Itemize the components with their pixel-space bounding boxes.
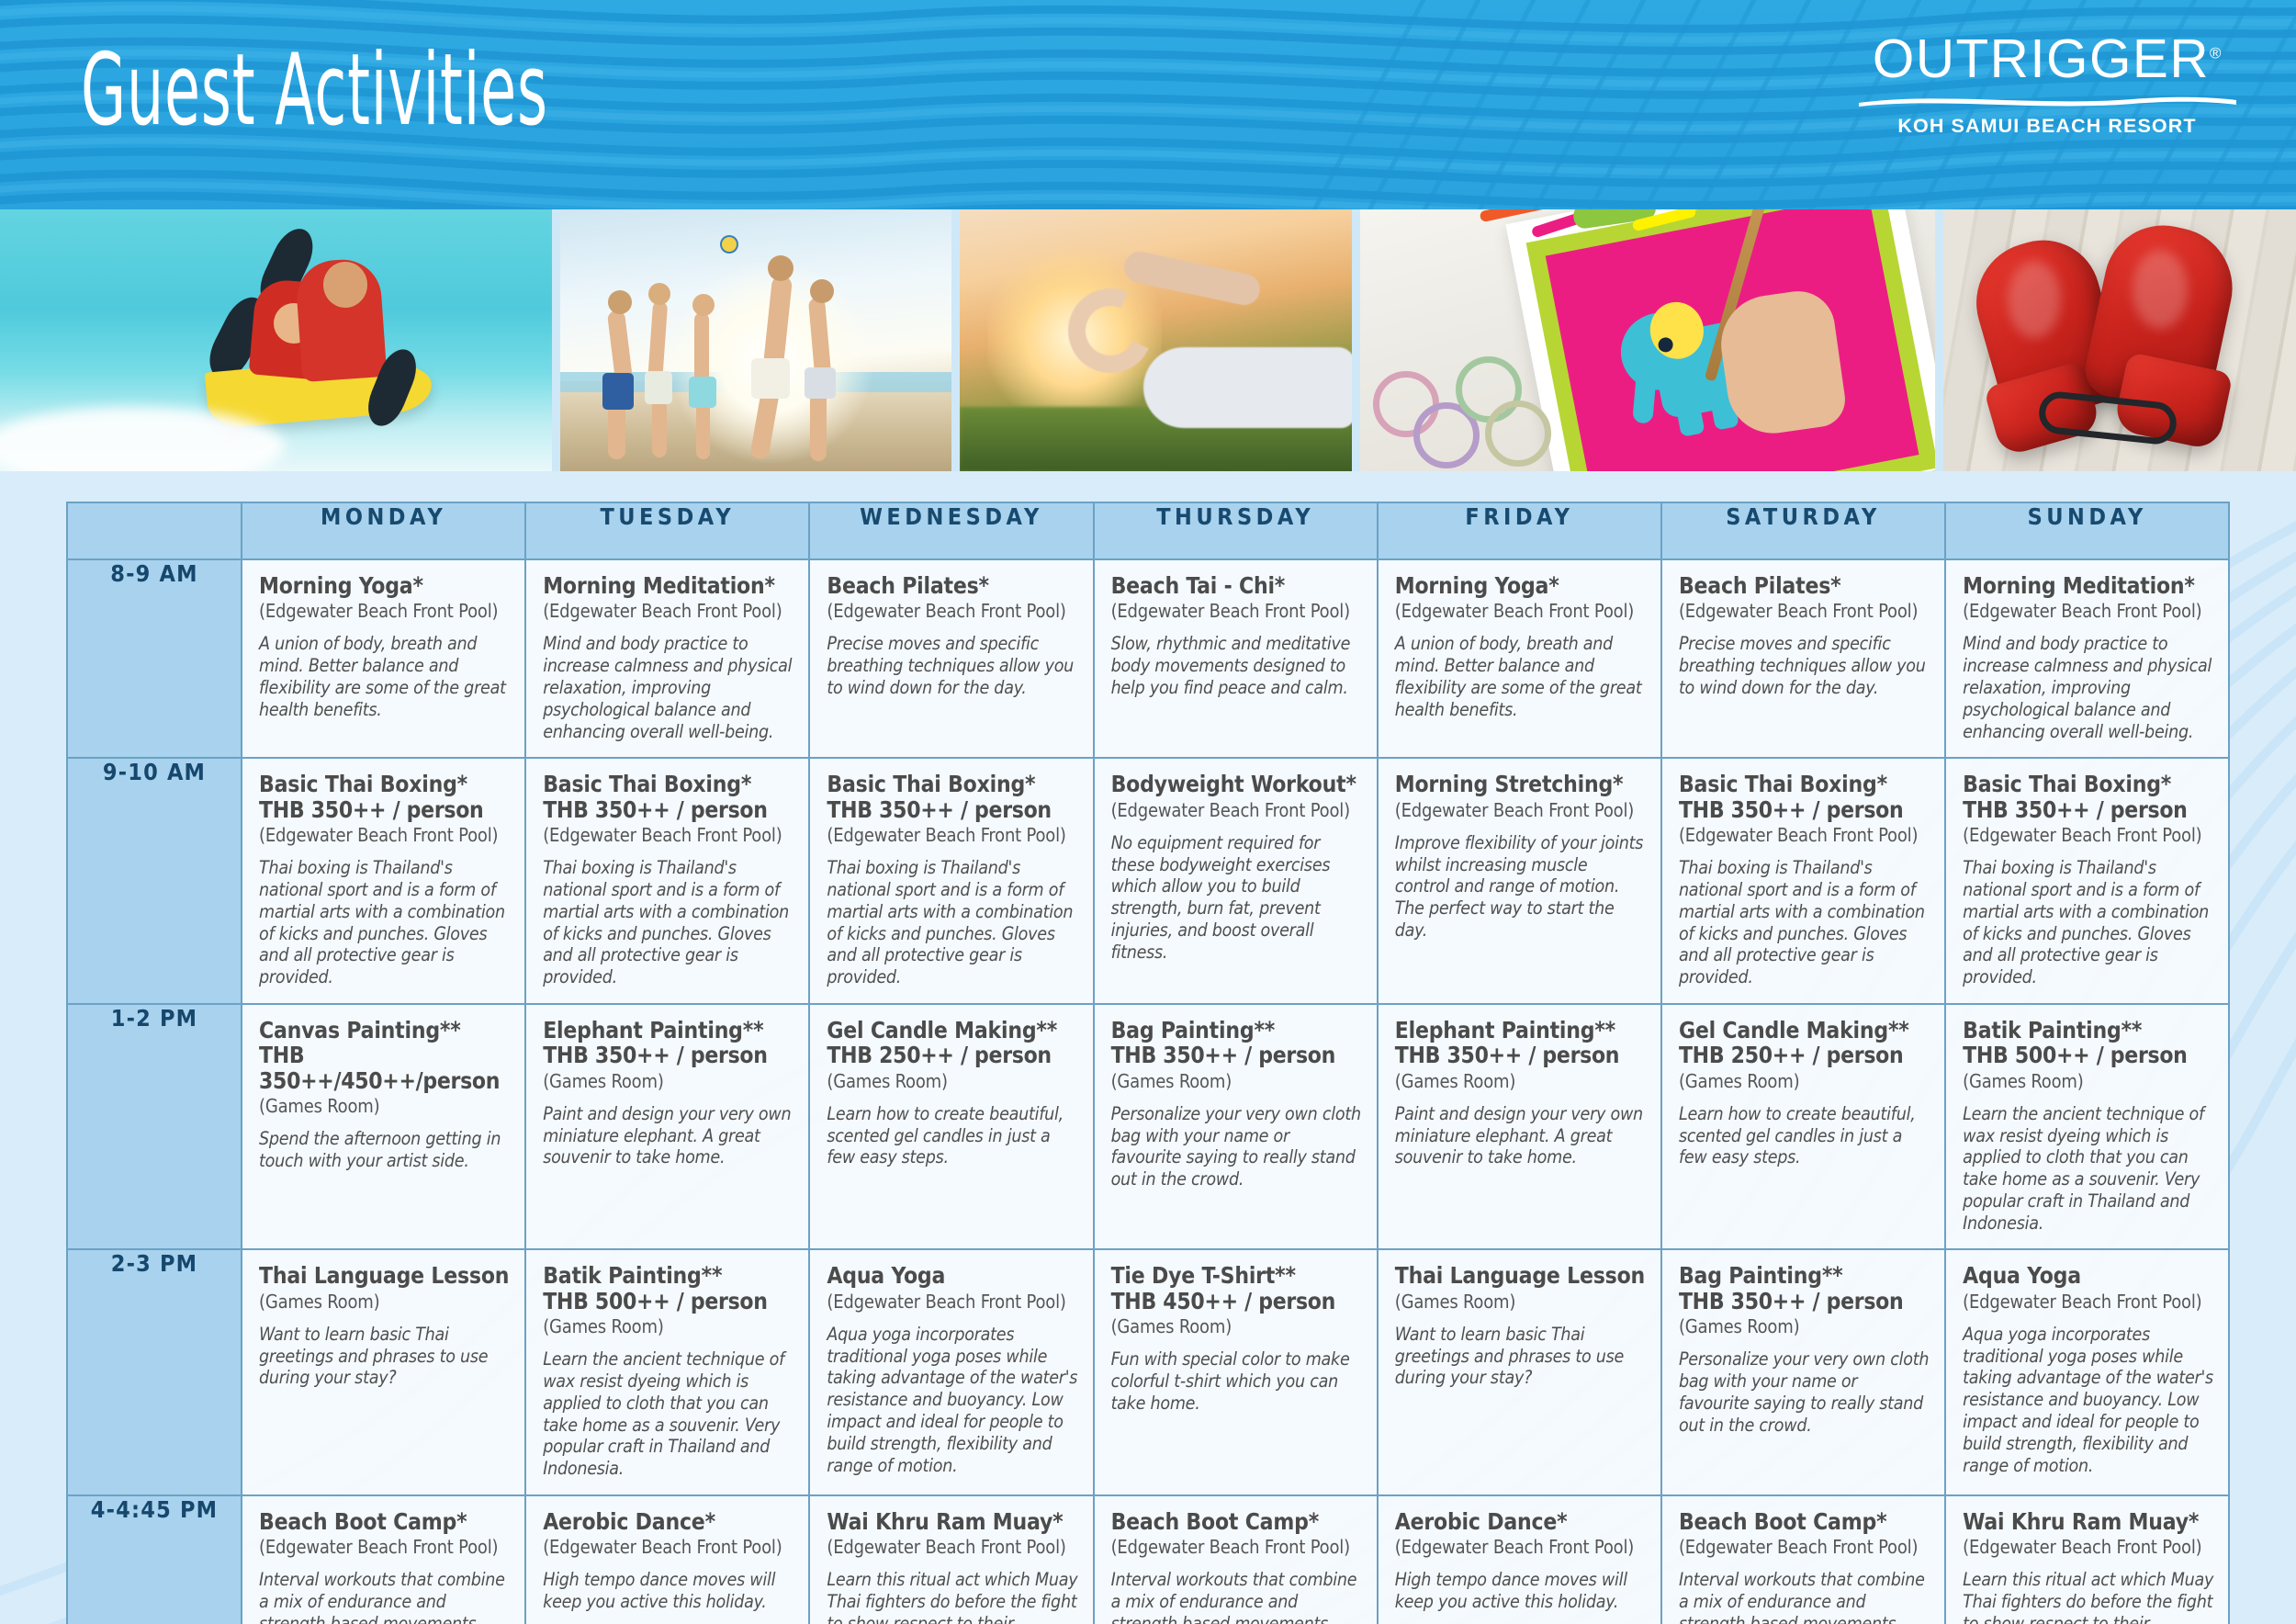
- activity-price: THB 350++ / person: [1111, 1043, 1362, 1067]
- activity-location: (Games Room): [259, 1095, 510, 1118]
- activity-location: (Edgewater Beach Front Pool): [1679, 600, 1930, 623]
- activity-description: Paint and design your very own miniature…: [1395, 1103, 1646, 1168]
- activity-title: Beach Boot Camp*: [1679, 1509, 1930, 1534]
- time-slot-label: 9-10 AM: [67, 758, 242, 1004]
- activity-description: Precise moves and specific breathing tec…: [827, 633, 1077, 698]
- activity-title: Elephant Painting**: [1395, 1018, 1646, 1043]
- activity-title: Beach Pilates*: [827, 573, 1077, 598]
- day-header-thursday: THURSDAY: [1094, 502, 1378, 559]
- beach-volleyball-photo: [560, 209, 952, 471]
- activity-title: Bag Painting**: [1111, 1018, 1362, 1043]
- activity-location: (Edgewater Beach Front Pool): [1111, 600, 1362, 623]
- activity-cell[interactable]: Beach Tai - Chi* (Edgewater Beach Front …: [1094, 559, 1378, 758]
- activity-description: A union of body, breath and mind. Better…: [259, 633, 510, 720]
- activity-title: Morning Yoga*: [259, 573, 510, 598]
- page-banner: Guest Activities OUTRIGGER® KOH SAMUI BE…: [0, 0, 2296, 209]
- activity-cell[interactable]: Morning Yoga* (Edgewater Beach Front Poo…: [1378, 559, 1661, 758]
- table-row: 2-3 PM Thai Language Lesson (Games Room)…: [67, 1249, 2229, 1495]
- activity-cell[interactable]: Bag Painting** THB 350++ / person (Games…: [1094, 1004, 1378, 1250]
- time-slot-label: 2-3 PM: [67, 1249, 242, 1495]
- table-row: 9-10 AM Basic Thai Boxing* THB 350++ / p…: [67, 758, 2229, 1004]
- activity-location: (Edgewater Beach Front Pool): [1395, 600, 1646, 623]
- activity-description: Learn the ancient technique of wax resis…: [543, 1348, 793, 1480]
- activity-description: Want to learn basic Thai greetings and p…: [259, 1324, 510, 1389]
- activity-location: (Edgewater Beach Front Pool): [827, 1291, 1077, 1314]
- activity-cell[interactable]: Thai Language Lesson (Games Room) Want t…: [242, 1249, 525, 1495]
- activity-title: Wai Khru Ram Muay*: [827, 1509, 1077, 1534]
- activity-location: (Games Room): [1679, 1315, 1930, 1338]
- activity-location: (Edgewater Beach Front Pool): [1963, 1536, 2213, 1559]
- activity-title: Gel Candle Making**: [1679, 1018, 1930, 1043]
- activity-location: (Edgewater Beach Front Pool): [543, 824, 793, 847]
- activity-cell[interactable]: Canvas Painting** THB 350++/450++/person…: [242, 1004, 525, 1250]
- table-corner-cell: [67, 502, 242, 559]
- activity-description: Aqua yoga incorporates traditional yoga …: [827, 1324, 1077, 1476]
- activity-description: A union of body, breath and mind. Better…: [1395, 633, 1646, 720]
- activity-title: Basic Thai Boxing*: [259, 772, 510, 796]
- table-body: 8-9 AM Morning Yoga* (Edgewater Beach Fr…: [67, 559, 2229, 1624]
- brand-name: OUTRIGGER®: [1873, 28, 2221, 90]
- activity-cell[interactable]: Aqua Yoga (Edgewater Beach Front Pool) A…: [1945, 1249, 2229, 1495]
- activity-cell[interactable]: Gel Candle Making** THB 250++ / person (…: [809, 1004, 1093, 1250]
- activity-title: Beach Boot Camp*: [259, 1509, 510, 1534]
- batik-elephant-painting-photo: [1360, 209, 1934, 471]
- activity-title: Elephant Painting**: [543, 1018, 793, 1043]
- table-header: MONDAY TUESDAY WEDNESDAY THURSDAY FRIDAY…: [67, 502, 2229, 559]
- activity-cell[interactable]: Morning Stretching* (Edgewater Beach Fro…: [1378, 758, 1661, 1004]
- activity-location: (Games Room): [1679, 1070, 1930, 1093]
- activity-title: Basic Thai Boxing*: [1963, 772, 2213, 796]
- activity-cell[interactable]: Thai Language Lesson (Games Room) Want t…: [1378, 1249, 1661, 1495]
- activity-price: THB 250++ / person: [1679, 1043, 1930, 1067]
- activity-description: Interval workouts that combine a mix of …: [1111, 1569, 1362, 1624]
- activity-cell[interactable]: Gel Candle Making** THB 250++ / person (…: [1661, 1004, 1945, 1250]
- table-row: 4-4:45 PM Beach Boot Camp* (Edgewater Be…: [67, 1495, 2229, 1624]
- activity-location: (Edgewater Beach Front Pool): [1395, 799, 1646, 822]
- activity-cell[interactable]: Morning Meditation* (Edgewater Beach Fro…: [525, 559, 809, 758]
- activity-cell[interactable]: Aqua Yoga (Edgewater Beach Front Pool) A…: [809, 1249, 1093, 1495]
- activity-description: Mind and body practice to increase calmn…: [543, 633, 793, 742]
- activity-location: (Edgewater Beach Front Pool): [1111, 799, 1362, 822]
- activity-cell[interactable]: Basic Thai Boxing* THB 350++ / person (E…: [242, 758, 525, 1004]
- activity-location: (Games Room): [1395, 1291, 1646, 1314]
- activity-price: THB 350++ / person: [1679, 797, 1930, 822]
- activity-price: THB 500++ / person: [1963, 1043, 2213, 1067]
- photo-strip: [0, 209, 2296, 471]
- activity-location: (Edgewater Beach Front Pool): [259, 824, 510, 847]
- activity-location: (Games Room): [543, 1315, 793, 1338]
- kayaking-photo: [0, 209, 552, 471]
- activity-title: Basic Thai Boxing*: [543, 772, 793, 796]
- boxing-gloves-photo: [1943, 209, 2296, 471]
- activity-description: Interval workouts that combine a mix of …: [259, 1569, 510, 1624]
- schedule-sheet: MONDAY TUESDAY WEDNESDAY THURSDAY FRIDAY…: [0, 471, 2296, 1624]
- activity-location: (Edgewater Beach Front Pool): [827, 824, 1077, 847]
- activity-cell[interactable]: Beach Pilates* (Edgewater Beach Front Po…: [809, 559, 1093, 758]
- activity-location: (Games Room): [1111, 1070, 1362, 1093]
- day-header-tuesday: TUESDAY: [525, 502, 809, 559]
- activity-cell[interactable]: Batik Painting** THB 500++ / person (Gam…: [525, 1249, 809, 1495]
- activity-description: Spend the afternoon getting in touch wit…: [259, 1128, 510, 1172]
- activity-cell[interactable]: Morning Yoga* (Edgewater Beach Front Poo…: [242, 559, 525, 758]
- activity-title: Aerobic Dance*: [1395, 1509, 1646, 1534]
- activity-title: Morning Meditation*: [543, 573, 793, 598]
- brand-wordmark: OUTRIGGER: [1873, 28, 2210, 89]
- activity-title: Aqua Yoga: [1963, 1263, 2213, 1288]
- activity-location: (Edgewater Beach Front Pool): [259, 1536, 510, 1559]
- activity-price: THB 350++ / person: [1679, 1289, 1930, 1314]
- activity-cell[interactable]: Basic Thai Boxing* THB 350++ / person (E…: [525, 758, 809, 1004]
- table-row: 1-2 PM Canvas Painting** THB 350++/450++…: [67, 1004, 2229, 1250]
- activity-title: Bodyweight Workout*: [1111, 772, 1362, 796]
- logo-swoosh-icon: [1857, 94, 2238, 107]
- activity-description: Want to learn basic Thai greetings and p…: [1395, 1324, 1646, 1389]
- table-header-row: MONDAY TUESDAY WEDNESDAY THURSDAY FRIDAY…: [67, 502, 2229, 559]
- activity-title: Thai Language Lesson: [259, 1263, 510, 1288]
- activity-cell[interactable]: Aerobic Dance* (Edgewater Beach Front Po…: [1378, 1495, 1661, 1624]
- activity-title: Morning Yoga*: [1395, 573, 1646, 598]
- activity-cell[interactable]: Morning Meditation* (Edgewater Beach Fro…: [1945, 559, 2229, 758]
- activity-cell[interactable]: Aerobic Dance* (Edgewater Beach Front Po…: [525, 1495, 809, 1624]
- yoga-sunset-photo: [960, 209, 1352, 471]
- activity-location: (Games Room): [259, 1291, 510, 1314]
- day-header-wednesday: WEDNESDAY: [809, 502, 1093, 559]
- activity-description: Paint and design your very own miniature…: [543, 1103, 793, 1168]
- day-header-monday: MONDAY: [242, 502, 525, 559]
- activity-cell[interactable]: Wai Khru Ram Muay* (Edgewater Beach Fron…: [1945, 1495, 2229, 1624]
- activity-price: THB 350++ / person: [543, 797, 793, 822]
- activities-schedule-table: MONDAY TUESDAY WEDNESDAY THURSDAY FRIDAY…: [66, 502, 2230, 1624]
- activity-description: Learn the ancient technique of wax resis…: [1963, 1103, 2213, 1235]
- activity-description: Personalize your very own cloth bag with…: [1111, 1103, 1362, 1190]
- activity-description: Thai boxing is Thailand's national sport…: [827, 857, 1077, 988]
- activity-description: Slow, rhythmic and meditative body movem…: [1111, 633, 1362, 698]
- activity-location: (Games Room): [1395, 1070, 1646, 1093]
- activity-title: Morning Meditation*: [1963, 573, 2213, 598]
- activity-location: (Edgewater Beach Front Pool): [1679, 824, 1930, 847]
- activity-price: THB 350++ / person: [543, 1043, 793, 1067]
- activity-location: (Games Room): [827, 1070, 1077, 1093]
- activity-description: Thai boxing is Thailand's national sport…: [543, 857, 793, 988]
- activity-cell[interactable]: Batik Painting** THB 500++ / person (Gam…: [1945, 1004, 2229, 1250]
- activity-price: THB 500++ / person: [543, 1289, 793, 1314]
- activity-description: Learn how to create beautiful, scented g…: [1679, 1103, 1930, 1168]
- activity-location: (Edgewater Beach Front Pool): [1963, 600, 2213, 623]
- activity-title: Aerobic Dance*: [543, 1509, 793, 1534]
- time-slot-label: 8-9 AM: [67, 559, 242, 758]
- activity-cell[interactable]: Elephant Painting** THB 350++ / person (…: [525, 1004, 809, 1250]
- registered-trademark-icon: ®: [2210, 44, 2221, 62]
- activity-location: (Games Room): [543, 1070, 793, 1093]
- activity-description: High tempo dance moves will keep you act…: [543, 1569, 793, 1613]
- day-header-saturday: SATURDAY: [1661, 502, 1945, 559]
- activity-description: Learn this ritual act which Muay Thai fi…: [827, 1569, 1077, 1624]
- activity-title: Wai Khru Ram Muay*: [1963, 1509, 2213, 1534]
- activity-description: Precise moves and specific breathing tec…: [1679, 633, 1930, 698]
- activity-location: (Games Room): [1963, 1070, 2213, 1093]
- activity-cell[interactable]: Tie Dye T-Shirt** THB 450++ / person (Ga…: [1094, 1249, 1378, 1495]
- activity-cell[interactable]: Basic Thai Boxing* THB 350++ / person (E…: [1945, 758, 2229, 1004]
- activity-title: Bag Painting**: [1679, 1263, 1930, 1288]
- activity-title: Basic Thai Boxing*: [827, 772, 1077, 796]
- activity-title: Gel Candle Making**: [827, 1018, 1077, 1043]
- time-slot-label: 4-4:45 PM: [67, 1495, 242, 1624]
- activity-location: (Edgewater Beach Front Pool): [543, 1536, 793, 1559]
- brand-subtitle: KOH SAMUI BEACH RESORT: [1850, 115, 2245, 138]
- activity-title: Tie Dye T-Shirt**: [1111, 1263, 1362, 1288]
- activity-description: Personalize your very own cloth bag with…: [1679, 1348, 1930, 1436]
- activity-location: (Edgewater Beach Front Pool): [1963, 1291, 2213, 1314]
- activity-title: Basic Thai Boxing*: [1679, 772, 1930, 796]
- activity-description: Thai boxing is Thailand's national sport…: [259, 857, 510, 988]
- activity-title: Canvas Painting**: [259, 1018, 510, 1043]
- activity-description: Interval workouts that combine a mix of …: [1679, 1569, 1930, 1624]
- activity-cell[interactable]: Basic Thai Boxing* THB 350++ / person (E…: [1661, 758, 1945, 1004]
- activity-title: Beach Tai - Chi*: [1111, 573, 1362, 598]
- activity-location: (Edgewater Beach Front Pool): [259, 600, 510, 623]
- activity-description: Learn this ritual act which Muay Thai fi…: [1963, 1569, 2213, 1624]
- activity-cell[interactable]: Wai Khru Ram Muay* (Edgewater Beach Fron…: [809, 1495, 1093, 1624]
- activity-location: (Games Room): [1111, 1315, 1362, 1338]
- activity-location: (Edgewater Beach Front Pool): [827, 600, 1077, 623]
- day-header-sunday: SUNDAY: [1945, 502, 2229, 559]
- activity-description: Fun with special color to make colorful …: [1111, 1348, 1362, 1414]
- activity-title: Beach Pilates*: [1679, 573, 1930, 598]
- activity-description: No equipment required for these bodyweig…: [1111, 832, 1362, 964]
- activity-description: Improve flexibility of your joints whils…: [1395, 832, 1646, 942]
- activity-price: THB 350++ / person: [259, 797, 510, 822]
- activity-title: Batik Painting**: [543, 1263, 793, 1288]
- activity-location: (Edgewater Beach Front Pool): [1111, 1536, 1362, 1559]
- activity-title: Aqua Yoga: [827, 1263, 1077, 1288]
- activity-price: THB 350++/450++/person: [259, 1043, 510, 1093]
- activity-location: (Edgewater Beach Front Pool): [1395, 1536, 1646, 1559]
- day-header-friday: FRIDAY: [1378, 502, 1661, 559]
- activity-description: Aqua yoga incorporates traditional yoga …: [1963, 1324, 2213, 1476]
- activity-price: THB 350++ / person: [1395, 1043, 1646, 1067]
- activity-title: Batik Painting**: [1963, 1018, 2213, 1043]
- activity-description: High tempo dance moves will keep you act…: [1395, 1569, 1646, 1613]
- activity-price: THB 250++ / person: [827, 1043, 1077, 1067]
- activity-location: (Edgewater Beach Front Pool): [543, 600, 793, 623]
- activity-title: Thai Language Lesson: [1395, 1263, 1646, 1288]
- activity-description: Thai boxing is Thailand's national sport…: [1679, 857, 1930, 988]
- activity-cell[interactable]: Basic Thai Boxing* THB 350++ / person (E…: [809, 758, 1093, 1004]
- brand-logo: OUTRIGGER® KOH SAMUI BEACH RESORT: [1850, 28, 2245, 138]
- activity-location: (Edgewater Beach Front Pool): [1679, 1536, 1930, 1559]
- activity-cell[interactable]: Beach Boot Camp* (Edgewater Beach Front …: [242, 1495, 525, 1624]
- activity-location: (Edgewater Beach Front Pool): [827, 1536, 1077, 1559]
- activity-title: Morning Stretching*: [1395, 772, 1646, 796]
- activity-cell[interactable]: Beach Pilates* (Edgewater Beach Front Po…: [1661, 559, 1945, 758]
- table-row: 8-9 AM Morning Yoga* (Edgewater Beach Fr…: [67, 559, 2229, 758]
- activity-cell[interactable]: Beach Boot Camp* (Edgewater Beach Front …: [1661, 1495, 1945, 1624]
- activity-description: Mind and body practice to increase calmn…: [1963, 633, 2213, 742]
- activity-cell[interactable]: Bodyweight Workout* (Edgewater Beach Fro…: [1094, 758, 1378, 1004]
- activity-description: Thai boxing is Thailand's national sport…: [1963, 857, 2213, 988]
- activity-description: Learn how to create beautiful, scented g…: [827, 1103, 1077, 1168]
- time-slot-label: 1-2 PM: [67, 1004, 242, 1250]
- activity-price: THB 350++ / person: [827, 797, 1077, 822]
- activity-price: THB 350++ / person: [1963, 797, 2213, 822]
- activity-cell[interactable]: Bag Painting** THB 350++ / person (Games…: [1661, 1249, 1945, 1495]
- activity-title: Beach Boot Camp*: [1111, 1509, 1362, 1534]
- page-title: Guest Activities: [81, 33, 548, 148]
- activity-cell[interactable]: Elephant Painting** THB 350++ / person (…: [1378, 1004, 1661, 1250]
- activity-location: (Edgewater Beach Front Pool): [1963, 824, 2213, 847]
- activity-price: THB 450++ / person: [1111, 1289, 1362, 1314]
- activity-cell[interactable]: Beach Boot Camp* (Edgewater Beach Front …: [1094, 1495, 1378, 1624]
